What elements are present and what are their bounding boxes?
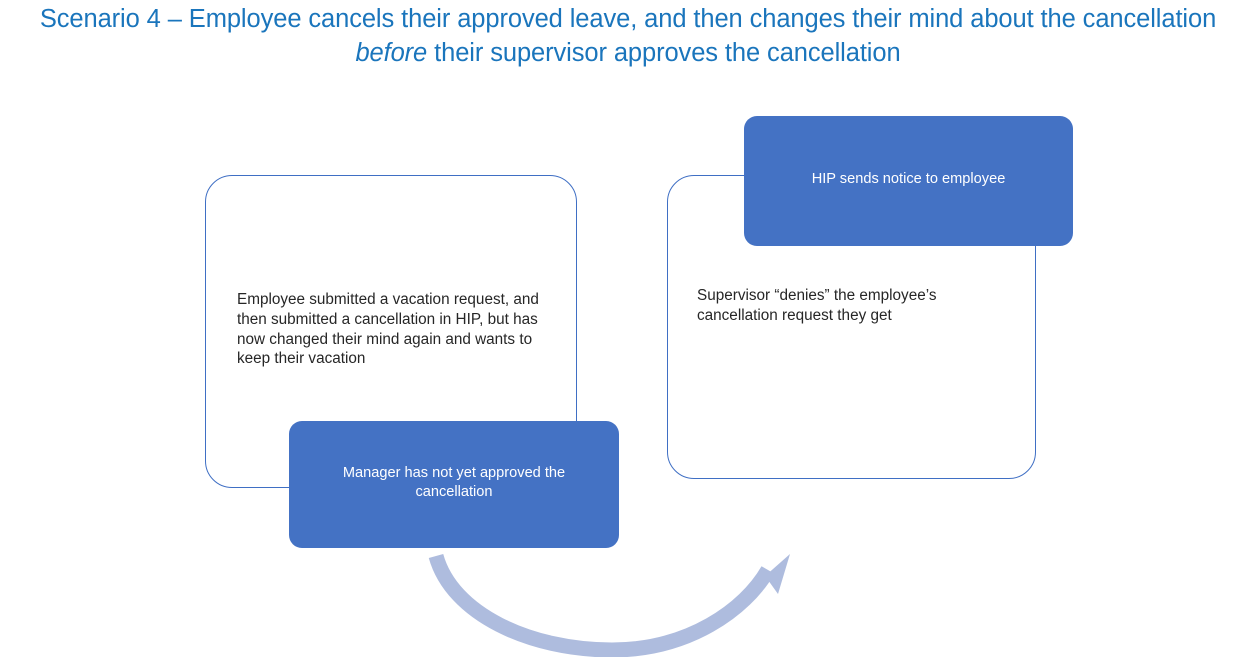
right-outline-box-label: Supervisor “denies” the employee’s cance… xyxy=(697,286,1017,326)
hip-notice-box-label: HIP sends notice to employee xyxy=(794,170,1024,189)
manager-pending-box: Manager has not yet approved the cancell… xyxy=(289,421,619,548)
left-outline-box-label: Employee submitted a vacation request, a… xyxy=(237,290,567,369)
page-title-line-1: Scenario 4 – Employee cancels their appr… xyxy=(0,2,1256,36)
page-title: Scenario 4 – Employee cancels their appr… xyxy=(0,2,1256,70)
page-title-line-2-rest: their supervisor approves the cancellati… xyxy=(427,39,900,67)
page-title-emphasis: before xyxy=(355,39,427,67)
manager-pending-box-label: Manager has not yet approved the cancell… xyxy=(289,464,619,502)
hip-notice-box: HIP sends notice to employee xyxy=(744,116,1073,246)
page-title-line-2: before their supervisor approves the can… xyxy=(0,36,1256,70)
